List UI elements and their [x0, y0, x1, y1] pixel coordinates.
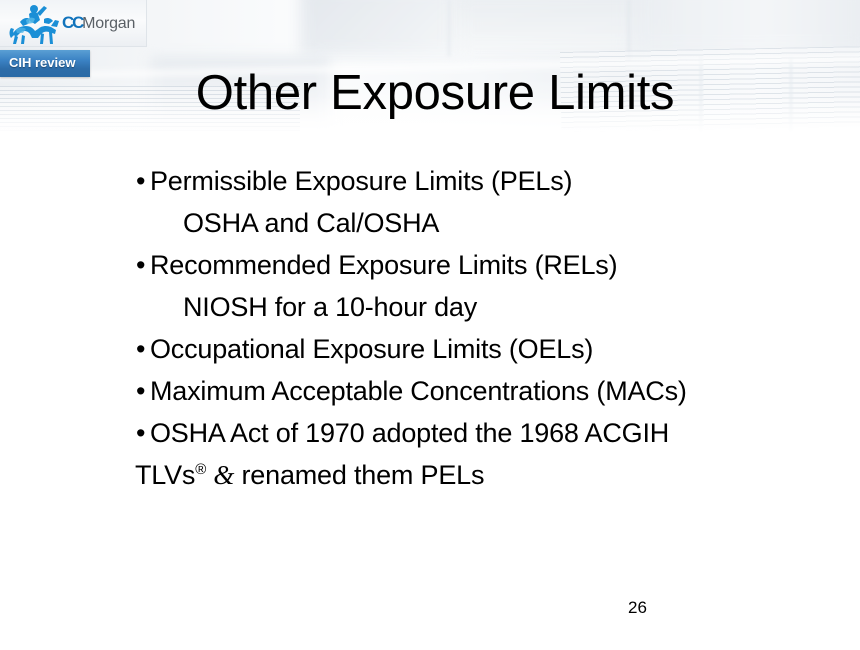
banner-texture-block [455, 0, 665, 52]
wrap-prefix-text: TLVs [135, 460, 195, 490]
sub-line: OSHA and Cal/OSHA [136, 202, 836, 244]
banner-window-mullion [628, 0, 630, 62]
bullet-line: •Occupational Exposure Limits (OELs) [136, 328, 836, 370]
bullet-icon: • [136, 160, 150, 202]
bullet-line: •Permissible Exposure Limits (PELs) [136, 160, 836, 202]
sub-line: NIOSH for a 10-hour day [136, 286, 836, 328]
bullet-line: •OSHA Act of 1970 adopted the 1968 ACGIH [136, 412, 836, 454]
bullet-line-text: Occupational Exposure Limits (OELs) [150, 334, 593, 364]
registered-trademark-icon: ® [195, 461, 206, 478]
cih-review-tab-label: CIH review [9, 55, 75, 70]
banner-texture-block [630, 0, 860, 54]
wrap-suffix-text: renamed them PELs [242, 460, 485, 490]
slide-body: •Permissible Exposure Limits (PELs) OSHA… [136, 160, 836, 496]
bullet-line: •Maximum Acceptable Concentrations (MACs… [136, 370, 836, 412]
bullet-icon: • [136, 412, 150, 454]
brand-logo-panel: CCMorgan [0, 0, 147, 47]
logo-name-text: Morgan [82, 15, 135, 32]
bullet-icon: • [136, 244, 150, 286]
ccmorgan-equestrian-logo-icon [8, 2, 60, 46]
banner-texture-block [300, 0, 470, 56]
sub-line-text: OSHA and Cal/OSHA [183, 208, 439, 238]
bullet-line-text: Recommended Exposure Limits (RELs) [150, 250, 617, 280]
logo-cc-text: CC [62, 13, 82, 32]
bullet-icon: • [136, 370, 150, 412]
page-number: 26 [628, 598, 647, 618]
bullet-line-text: OSHA Act of 1970 adopted the 1968 ACGIH [150, 418, 669, 448]
bullet-line-text: Maximum Acceptable Concentrations (MACs) [150, 376, 687, 406]
logo-wordmark: CCMorgan [62, 13, 135, 33]
banner-window-mullion [448, 0, 450, 56]
ampersand-glyph: & [213, 460, 234, 490]
bullet-line: •Recommended Exposure Limits (RELs) [136, 244, 836, 286]
bullet-line-wrap: TLVs® & renamed them PELs [135, 454, 836, 496]
sub-line-text: NIOSH for a 10-hour day [183, 292, 477, 322]
bullet-line-text: Permissible Exposure Limits (PELs) [150, 166, 572, 196]
slide-title: Other Exposure Limits [0, 69, 860, 118]
bullet-icon: • [136, 328, 150, 370]
